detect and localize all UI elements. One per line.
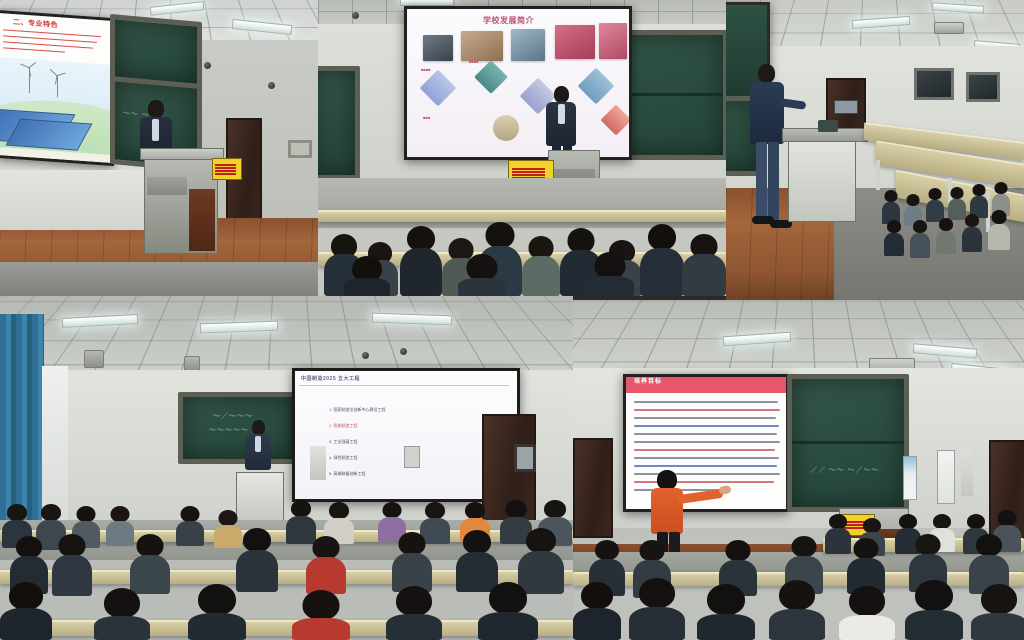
student xyxy=(176,506,204,546)
slide-list-item: 1. 国家制造业创新中心建设工程 xyxy=(329,407,385,413)
student xyxy=(884,220,904,256)
student xyxy=(586,252,634,296)
student xyxy=(769,580,825,640)
lower-floor xyxy=(0,262,318,296)
audience-crowd xyxy=(573,500,1024,640)
student xyxy=(130,534,170,594)
slide-tile xyxy=(600,104,631,135)
wall-notice xyxy=(288,140,312,158)
student xyxy=(522,236,560,296)
student xyxy=(882,190,900,224)
security-camera-icon xyxy=(362,352,369,359)
slide-tile xyxy=(420,70,457,107)
wall-cabinet xyxy=(310,446,326,480)
student xyxy=(962,214,982,252)
student xyxy=(478,582,538,640)
student xyxy=(905,580,963,640)
slide-tile xyxy=(578,68,615,105)
audience-crowd xyxy=(0,494,573,640)
slide-list-item: 4. 绿色制造工程 xyxy=(329,455,357,461)
slide-photo xyxy=(423,35,453,61)
slide-title: 二、专业特色 xyxy=(13,17,58,30)
slide-photo xyxy=(555,25,595,59)
panel-bottom-left: ～／～～～ ～～～～～ 中国制造2025 五大工程 1. 国家制造业创新中心建设… xyxy=(0,296,573,640)
security-camera-icon xyxy=(204,62,211,69)
chalk-writing: ／／ ～～ ～／～～ xyxy=(810,465,880,475)
interior-window xyxy=(966,72,1000,102)
student xyxy=(970,184,988,218)
student xyxy=(52,534,92,596)
panel-top-left: 二、专业特色 ～～ ～～ xyxy=(0,0,318,296)
door-window xyxy=(514,444,536,472)
interior-window xyxy=(914,68,954,100)
student xyxy=(292,590,350,640)
student xyxy=(936,218,956,254)
wall-speaker xyxy=(84,350,104,368)
security-camera-icon xyxy=(268,82,275,89)
student xyxy=(188,584,246,640)
slide-school-intro: 学校发展简介 ■■■■ ■■■■ ■■■ ■■■■ xyxy=(407,9,629,157)
projection-screen: 二、专业特色 xyxy=(0,10,114,166)
wall-notice xyxy=(404,446,420,468)
student xyxy=(682,234,726,296)
student xyxy=(344,256,390,296)
lectern xyxy=(144,154,218,254)
panel-bottom-right: 培养目标 ／／ ～～ ～／～～ xyxy=(573,300,1024,640)
student xyxy=(392,532,432,592)
slide-photo xyxy=(511,29,545,61)
notice-poster xyxy=(937,450,955,504)
security-camera-icon xyxy=(352,12,359,19)
notice-poster xyxy=(903,456,917,500)
student xyxy=(629,578,685,640)
slide-solar: 二、专业特色 xyxy=(0,13,111,163)
slide-title: 学校发展简介 xyxy=(483,15,534,26)
chalkboard xyxy=(318,66,360,180)
student xyxy=(0,582,52,640)
student xyxy=(236,528,278,592)
slide-tile xyxy=(474,60,508,94)
student xyxy=(971,584,1024,640)
student xyxy=(839,586,895,640)
security-camera-icon xyxy=(400,348,407,355)
student xyxy=(386,586,442,640)
slide-title: 中国制造2025 五大工程 xyxy=(301,375,360,382)
speaker xyxy=(748,64,788,232)
chalkboard: ～／～～～ ～～～～～ xyxy=(178,392,304,464)
ceiling-projector xyxy=(934,22,964,34)
slide-title: 培养目标 xyxy=(626,377,786,385)
panel-top-right xyxy=(726,0,1024,300)
student xyxy=(697,584,755,640)
student xyxy=(926,188,944,222)
student xyxy=(458,254,506,296)
slide-header-band: 培养目标 xyxy=(626,377,786,393)
student-rows xyxy=(878,140,1024,300)
lectern xyxy=(788,136,856,222)
wall-panel xyxy=(961,450,973,496)
student xyxy=(306,536,346,594)
student xyxy=(640,224,684,296)
desk-row xyxy=(318,210,726,222)
slide-list-item: 2. 智能制造工程 xyxy=(329,423,357,429)
slide-list-item: 3. 工业强基工程 xyxy=(329,439,357,445)
slide-photo xyxy=(461,31,503,61)
chalkboard: ／／ ～～ ～／～～ xyxy=(787,374,909,512)
podium-warning-sign xyxy=(212,158,242,180)
slide-photo xyxy=(599,23,627,59)
slide-list-item: 5. 高端装备创新工程 xyxy=(329,471,365,477)
window-curtain xyxy=(0,314,44,524)
audience-crowd xyxy=(318,176,726,296)
panel-top-middle: 学校发展简介 ■■■■ ■■■■ ■■■ ■■■■ xyxy=(318,0,726,296)
slide-tile xyxy=(493,115,519,141)
student xyxy=(400,226,442,296)
student xyxy=(988,210,1010,250)
photo-collage: 二、专业特色 ～～ ～～ xyxy=(0,0,1024,640)
student xyxy=(94,588,150,640)
monitor-on-lectern xyxy=(818,120,838,132)
student xyxy=(573,582,621,640)
student xyxy=(910,220,930,258)
projection-screen: 学校发展简介 ■■■■ ■■■■ ■■■ ■■■■ xyxy=(404,6,632,160)
